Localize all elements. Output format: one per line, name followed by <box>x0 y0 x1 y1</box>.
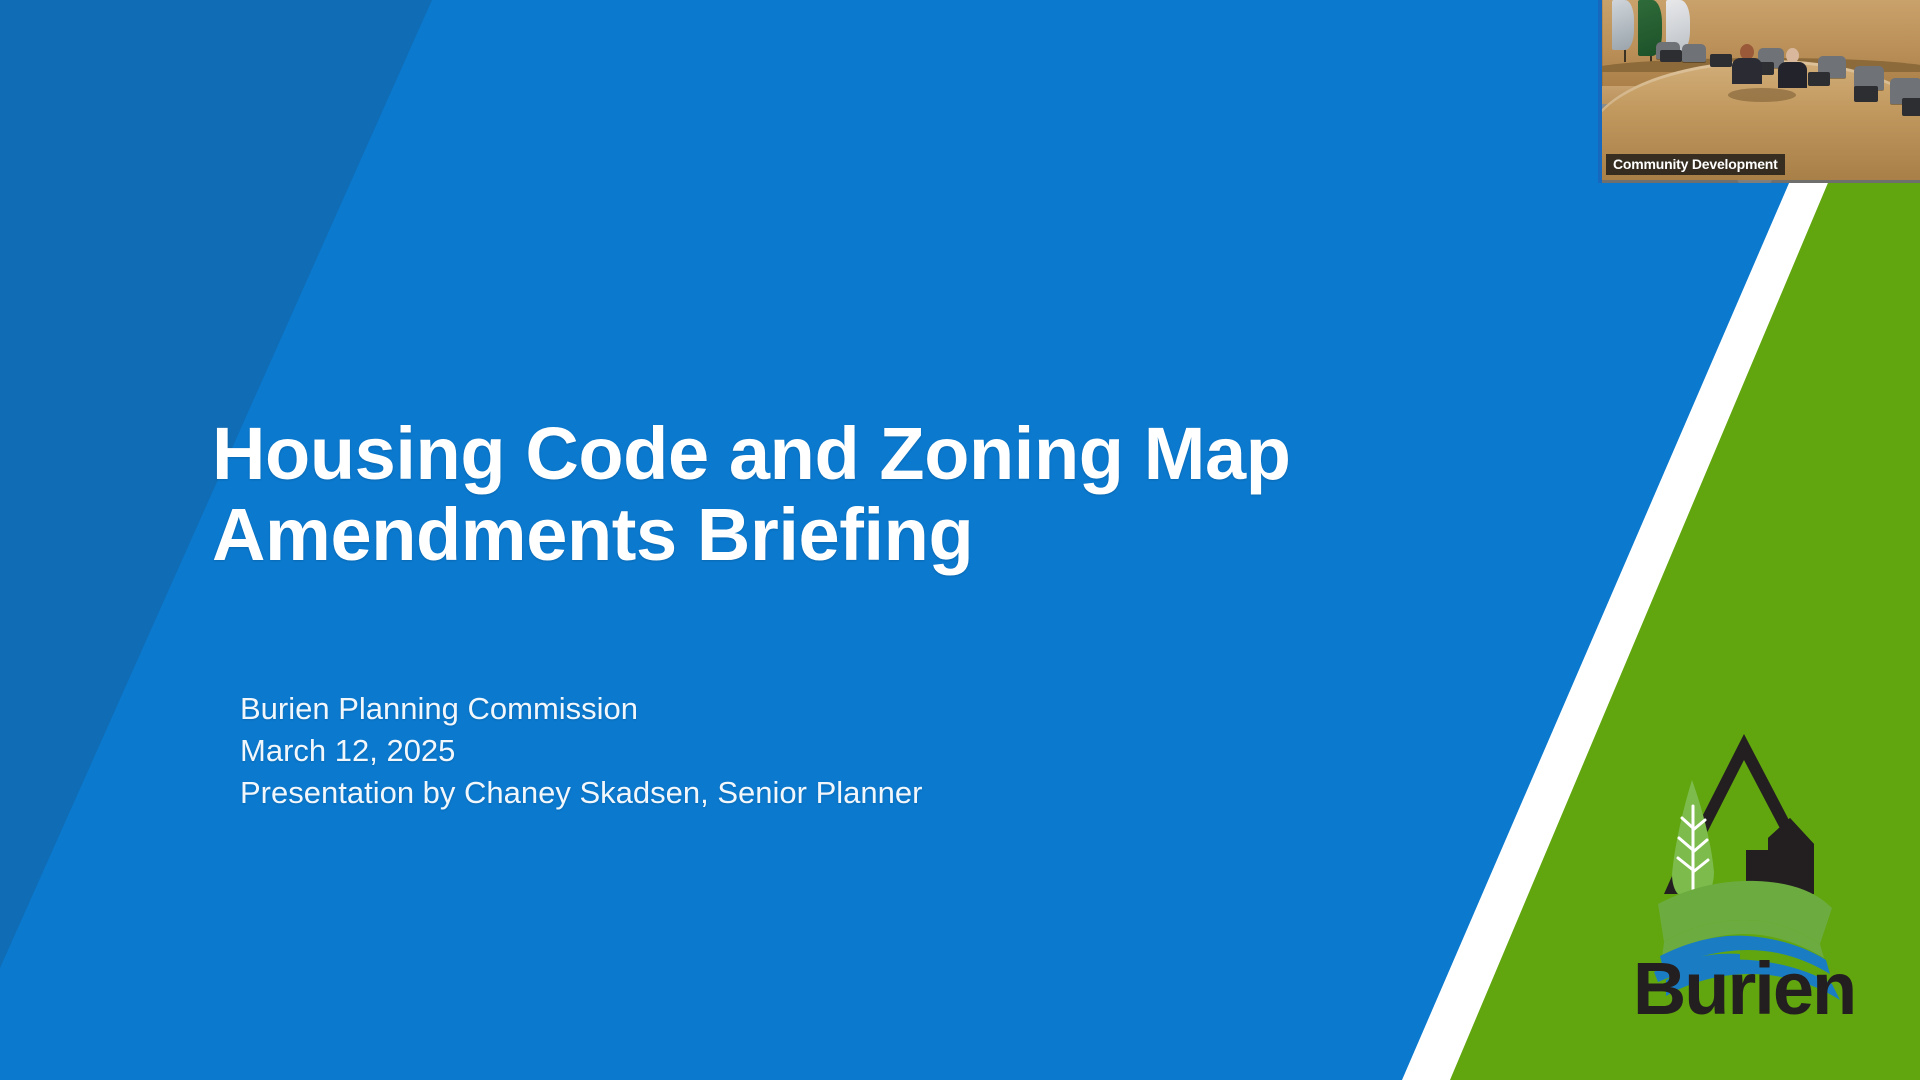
person-body <box>1732 58 1762 84</box>
flag-seal <box>1612 0 1634 50</box>
dais-monitor <box>1710 54 1732 67</box>
subtitle-line-organization: Burien Planning Commission <box>240 688 922 730</box>
slide-title: Housing Code and Zoning Map Amendments B… <box>212 414 1372 575</box>
presentation-screen: Housing Code and Zoning Map Amendments B… <box>0 0 1920 1080</box>
subtitle-line-presenter: Presentation by Chaney Skadsen, Senior P… <box>240 772 922 814</box>
chair <box>1682 44 1706 62</box>
dais-monitor <box>1854 86 1878 102</box>
burien-wordmark: Burien <box>1633 947 1855 1018</box>
person-body <box>1778 62 1807 88</box>
video-participant-tile[interactable]: Community Development <box>1598 0 1920 183</box>
slide-subtitle-block: Burien Planning Commission March 12, 202… <box>240 688 922 814</box>
dais-monitor <box>1660 50 1682 62</box>
dais-monitor <box>1902 98 1920 116</box>
dais-monitor <box>1808 72 1830 86</box>
person-head <box>1786 48 1799 63</box>
subtitle-line-date: March 12, 2025 <box>240 730 922 772</box>
burien-logo: Burien <box>1618 718 1870 1018</box>
participant-name-label: Community Development <box>1606 154 1785 175</box>
city-of-burien-seal <box>1728 88 1796 102</box>
burien-logo-icon: Burien <box>1618 718 1870 1018</box>
